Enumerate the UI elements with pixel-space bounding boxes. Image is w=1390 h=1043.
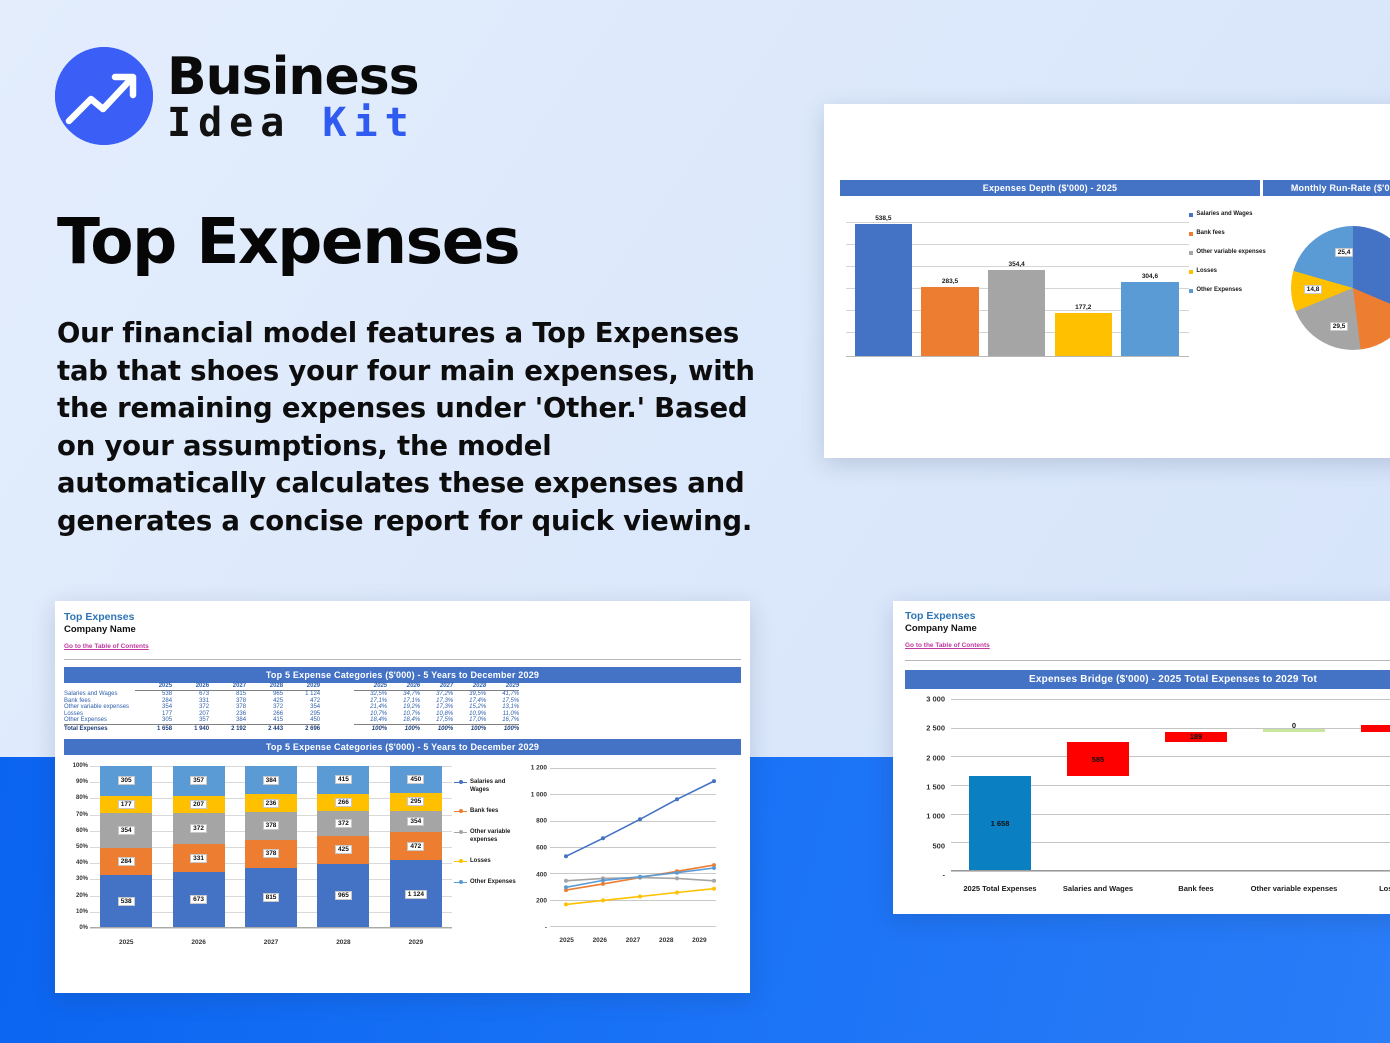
y-tick-label: 20%	[64, 893, 88, 899]
y-tick-label: 60%	[64, 828, 88, 834]
cell: 2 443	[246, 724, 283, 732]
column-header-year: 2028	[453, 683, 486, 691]
table-row: Other Expenses305357384415450	[64, 717, 320, 724]
sheet-divider	[905, 660, 1390, 661]
cell: 450	[283, 717, 320, 724]
expenses-depth-bar-chart: 538,5 283,5 354,4 177,2	[840, 200, 1189, 375]
y-tick-label: 2 000	[905, 753, 945, 762]
brand-kit-word: Kit	[322, 100, 415, 146]
depth-bar-value: 283,5	[942, 278, 958, 285]
sheet-header: Top Expenses Company Name Go to the Tabl…	[55, 601, 750, 653]
depth-bars: 538,5 283,5 354,4 177,2	[850, 208, 1183, 357]
x-tick-label: 2025 Total Expenses	[951, 884, 1049, 893]
expense-values-table: 2025 2026 2027 2028 2029 Salaries and Wa…	[64, 683, 320, 732]
legend-swatch-icon	[1189, 289, 1193, 293]
legend-item-bank-fees: Bank fees	[1189, 229, 1272, 237]
cell: 1 124	[283, 691, 320, 698]
cell: 305	[135, 717, 172, 724]
waterfall-axis-line	[951, 870, 1390, 871]
cell: 18,4%	[387, 717, 420, 724]
line-chart-legend: Salaries and Wages Bank fees Other varia…	[454, 760, 520, 950]
legend-item-losses: Losses	[454, 857, 520, 865]
segment-value: 378	[263, 821, 280, 830]
line-chart-block: Salaries and Wages Bank fees Other varia…	[454, 760, 722, 950]
x-tick-label: 2027	[616, 937, 649, 944]
column-header-year: 2028	[246, 683, 283, 691]
depth-bar-value: 354,4	[1009, 261, 1025, 268]
panel-a-legend: Salaries and Wages Bank fees Other varia…	[1189, 196, 1272, 375]
cell: 100%	[420, 724, 453, 732]
cell: 100%	[354, 724, 387, 732]
waterfall-bar-losses: 1	[1343, 699, 1390, 871]
stacked-column-2026: 357 207 372 331 673	[162, 766, 234, 928]
pie-label-losses: 14,8	[1304, 285, 1323, 294]
y-tick-label: 1 000	[520, 791, 547, 798]
brand-idea-word: Idea	[167, 100, 322, 146]
monthly-run-rate-title: Monthly Run-Rate ($'000	[1263, 180, 1390, 196]
y-tick-label: 600	[520, 845, 547, 852]
x-tick-label: 2025	[90, 939, 162, 946]
waterfall-columns: 1 658 585 189 0	[951, 699, 1390, 871]
y-tick-label: 80%	[64, 795, 88, 801]
cell: 39,5%	[453, 691, 486, 698]
bar-value: 0	[1292, 721, 1296, 730]
segment-value: 236	[263, 799, 280, 808]
y-tick-label: 3 000	[905, 695, 945, 704]
sheet-header: Top Expenses Company Name Go to the Tabl…	[893, 601, 1390, 652]
legend-item-salaries: Salaries and Wages	[454, 778, 520, 794]
sheet-company-name: Company Name	[905, 623, 1390, 634]
segment-value: 965	[335, 891, 352, 900]
x-tick-label: 2028	[307, 939, 379, 946]
y-tick-label: 1 000	[905, 812, 945, 821]
segment-value: 378	[263, 849, 280, 858]
legend-line-icon	[454, 830, 467, 835]
column-header-year: 2026	[172, 683, 209, 691]
cell: 100%	[453, 724, 486, 732]
x-tick-label: Salaries and Wages	[1049, 884, 1147, 893]
column-header-year: 2029	[486, 683, 519, 691]
table-total-row: 100%100%100%100%100%	[354, 724, 519, 732]
segment-value: 207	[190, 800, 207, 809]
waterfall-bar-bank-fees: 189	[1147, 699, 1245, 871]
waterfall-bar-2025-total: 1 658	[951, 699, 1049, 871]
stacked-chart-title: Top 5 Expense Categories ($'000) - 5 Yea…	[64, 739, 741, 755]
sheet-divider	[64, 659, 741, 660]
cell: 41,7%	[486, 691, 519, 698]
waterfall-bar-other-variable: 0	[1245, 699, 1343, 871]
expense-percent-table: 2025 2026 2027 2028 2029 32,5%34,7%37,2%…	[354, 683, 519, 732]
expense-tables: 2025 2026 2027 2028 2029 Salaries and Wa…	[55, 683, 750, 732]
bar-value: 189	[1190, 732, 1203, 741]
depth-bar-salaries: 538,5	[850, 208, 917, 357]
segment-value: 354	[407, 817, 424, 826]
cell: 34,7%	[387, 691, 420, 698]
table-row: Salaries and Wages5386738159651 124	[64, 691, 320, 698]
legend-swatch-icon	[1189, 251, 1193, 255]
brand-name-line2: Idea Kit	[167, 102, 419, 144]
waterfall-bar-salaries: 585	[1049, 699, 1147, 871]
column-header-year: 2027	[420, 683, 453, 691]
segment-value: 450	[407, 775, 424, 784]
y-tick-label: 200	[520, 898, 547, 905]
pie-label-other-expenses: 25,4	[1335, 248, 1354, 257]
x-tick-label: 2028	[650, 937, 683, 944]
legend-line-icon	[454, 780, 467, 785]
stacked-columns: 305 177 354 284 538 357 207 372 331 673	[90, 766, 452, 928]
legend-item-salaries: Salaries and Wages	[1189, 210, 1272, 218]
depth-bar-other-variable: 354,4	[983, 208, 1050, 357]
y-tick-label: 400	[520, 871, 547, 878]
x-tick-label: 2026	[162, 939, 234, 946]
y-tick-label: 40%	[64, 860, 88, 866]
cell: 32,5%	[354, 691, 387, 698]
legend-label: Salaries and Wages	[1196, 210, 1252, 218]
legend-label: Losses	[470, 857, 491, 865]
monthly-run-rate-pie-chart: 25,4 14,8 29,5	[1273, 200, 1390, 375]
panel-a-title-row: Expenses Depth ($'000) - 2025 Monthly Ru…	[840, 180, 1390, 196]
cell: 17,5%	[420, 717, 453, 724]
trend-up-arrow-icon	[55, 47, 153, 145]
cell: 965	[246, 691, 283, 698]
column-header-year: 2025	[354, 683, 387, 691]
table-row: 32,5%34,7%37,2%39,5%41,7%	[354, 691, 519, 698]
expenses-bridge-panel: Top Expenses Company Name Go to the Tabl…	[893, 601, 1390, 914]
row-label: Salaries and Wages	[64, 691, 135, 698]
y-tick-label: 800	[520, 818, 547, 825]
x-tick-label: 2026	[583, 937, 616, 944]
segment-value: 357	[190, 776, 207, 785]
stacked-x-labels: 2025 2026 2027 2028 2029	[90, 939, 452, 946]
y-tick-label: 500	[905, 841, 945, 850]
column-header-year: 2029	[283, 683, 320, 691]
legend-label: Salaries and Wages	[470, 778, 520, 794]
cell: 1 658	[135, 724, 172, 732]
cell: 2 696	[283, 724, 320, 732]
cell: 815	[209, 691, 246, 698]
row-label: Other variable expenses	[64, 704, 135, 711]
cell: 538	[135, 691, 172, 698]
y-tick-label: 0%	[64, 925, 88, 931]
stacked-axis-line	[90, 927, 452, 928]
segment-value: 415	[335, 775, 352, 784]
brand-name-line1: Business	[167, 52, 419, 103]
y-tick-label: 100%	[64, 763, 88, 769]
page-title: Top Expenses	[57, 205, 519, 278]
expenses-bridge-title: Expenses Bridge ($'000) - 2025 Total Exp…	[905, 670, 1390, 689]
line-series-paths	[550, 768, 716, 928]
column-header-year: 2027	[209, 683, 246, 691]
segment-value: 815	[263, 893, 280, 902]
sheet-title: Top Expenses	[905, 610, 1390, 622]
legend-item-other-variable: Other variable expenses	[1189, 248, 1272, 256]
cell: 384	[209, 717, 246, 724]
stacked-column-2027: 384 236 378 378 815	[235, 766, 307, 928]
x-tick-label: Other variable expenses	[1245, 884, 1343, 893]
y-tick-label: 1 200	[520, 765, 547, 772]
x-tick-label: 2025	[550, 937, 583, 944]
cell: 100%	[387, 724, 420, 732]
stacked-column-2025: 305 177 354 284 538	[90, 766, 162, 928]
legend-item-other-expenses: Other Expenses	[454, 878, 520, 886]
table-header-row: 2025 2026 2027 2028 2029	[64, 683, 320, 691]
segment-value: 538	[118, 897, 135, 906]
legend-label: Other variable expenses	[1196, 248, 1265, 256]
legend-label: Other Expenses	[470, 878, 516, 886]
x-tick-label: 2029	[683, 937, 716, 944]
x-tick-label: 2029	[380, 939, 452, 946]
segment-value: 305	[118, 776, 135, 785]
bar-value: 1 658	[991, 819, 1010, 828]
segment-value: 372	[190, 824, 207, 833]
line-x-labels: 2025 2026 2027 2028 2029	[550, 937, 716, 944]
segment-value: 284	[118, 857, 135, 866]
top-expenses-sheet-panel: Top Expenses Company Name Go to the Tabl…	[55, 601, 750, 993]
legend-line-icon	[454, 809, 467, 814]
cell: 37,2%	[420, 691, 453, 698]
table-of-contents-link[interactable]: Go to the Table of Contents	[905, 642, 990, 649]
depth-bar-other-expenses: 304,6	[1117, 208, 1184, 357]
cell: 2 192	[209, 724, 246, 732]
y-tick-label: 1 500	[905, 783, 945, 792]
legend-label: Other variable expenses	[470, 828, 520, 844]
legend-label: Bank fees	[470, 807, 498, 815]
segment-value: 384	[263, 776, 280, 785]
legend-item-bank-fees: Bank fees	[454, 807, 520, 815]
cell: 17,0%	[453, 717, 486, 724]
sheet-title: Top Expenses	[64, 611, 750, 623]
legend-swatch-icon	[1189, 213, 1193, 217]
x-tick-label: 2027	[235, 939, 307, 946]
depth-axis-line	[846, 356, 1189, 357]
y-tick-label: 50%	[64, 844, 88, 850]
legend-label: Losses	[1196, 267, 1217, 275]
y-tick-label: -	[520, 925, 547, 932]
waterfall-chart: 3 000 2 500 2 000 1 500 1 000 500 - 1 65…	[905, 695, 1390, 901]
legend-item-losses: Losses	[1189, 267, 1272, 275]
y-tick-label: -	[905, 871, 945, 880]
sheet-company-name: Company Name	[64, 624, 750, 635]
cell: 16,7%	[486, 717, 519, 724]
x-tick-label: Losses	[1343, 884, 1390, 893]
cell: 100%	[486, 724, 519, 732]
expenses-depth-panel: Expenses Depth ($'000) - 2025 Monthly Ru…	[824, 104, 1390, 458]
description-paragraph: Our financial model features a Top Expen…	[57, 315, 757, 540]
segment-value: 331	[190, 854, 207, 863]
stacked-column-2029: 450 295 354 472 1 124	[380, 766, 452, 928]
legend-item-other-variable: Other variable expenses	[454, 828, 520, 844]
y-tick-label: 30%	[64, 876, 88, 882]
cell: 415	[246, 717, 283, 724]
brand-logo: Business Idea Kit	[55, 47, 419, 145]
expense-table-title: Top 5 Expense Categories ($'000) - 5 Yea…	[64, 667, 741, 683]
table-total-row: Total Expenses1 6581 9402 1922 4432 696	[64, 724, 320, 732]
legend-line-icon	[454, 880, 467, 885]
panel-b-charts: 100% 90% 80% 70% 60% 50% 40% 30% 20% 10%…	[55, 760, 750, 950]
y-tick-label: 70%	[64, 812, 88, 818]
table-of-contents-link[interactable]: Go to the Table of Contents	[64, 643, 149, 650]
segment-value: 1 124	[405, 890, 427, 899]
segment-value: 372	[335, 819, 352, 828]
table-corner	[64, 683, 135, 691]
segment-value: 673	[190, 895, 207, 904]
y-tick-label: 10%	[64, 909, 88, 915]
stacked-column-2028: 415 266 372 425 965	[307, 766, 379, 928]
waterfall-x-labels: 2025 Total Expenses Salaries and Wages B…	[951, 884, 1390, 893]
bar-value: 585	[1092, 755, 1105, 764]
table-row: 18,4%18,4%17,5%17,0%16,7%	[354, 717, 519, 724]
column-header-year: 2025	[135, 683, 172, 691]
segment-value: 425	[335, 845, 352, 854]
legend-line-icon	[454, 859, 467, 864]
cell: 673	[172, 691, 209, 698]
slide-canvas: Business Idea Kit Top Expenses Our finan…	[0, 0, 1390, 1043]
legend-label: Other Expenses	[1196, 286, 1242, 294]
y-tick-label: 2 500	[905, 724, 945, 733]
legend-label: Bank fees	[1196, 229, 1224, 237]
segment-value: 266	[335, 798, 352, 807]
depth-bar-value: 538,5	[875, 215, 891, 222]
legend-swatch-icon	[1189, 232, 1193, 236]
legend-item-other-expenses: Other Expenses	[1189, 286, 1272, 294]
segment-value: 295	[407, 797, 424, 806]
column-header-year: 2026	[387, 683, 420, 691]
table-header-row: 2025 2026 2027 2028 2029	[354, 683, 519, 691]
depth-bar-losses: 177,2	[1050, 208, 1117, 357]
cell: 18,4%	[354, 717, 387, 724]
depth-bar-value: 177,2	[1075, 304, 1091, 311]
cell: 357	[172, 717, 209, 724]
legend-swatch-icon	[1189, 270, 1193, 274]
row-label: Total Expenses	[64, 724, 135, 732]
depth-bar-value: 304,6	[1142, 273, 1158, 280]
pie-label-other-variable: 29,5	[1330, 322, 1349, 331]
stacked-bar-chart: 100% 90% 80% 70% 60% 50% 40% 30% 20% 10%…	[64, 760, 454, 950]
expenses-trend-line-chart: 1 200 1 000 800 600 400 200 -	[520, 760, 720, 950]
y-tick-label: 90%	[64, 779, 88, 785]
panel-a-charts: 538,5 283,5 354,4 177,2	[840, 196, 1390, 375]
x-tick-label: Bank fees	[1147, 884, 1245, 893]
segment-value: 354	[118, 826, 135, 835]
cell: 1 940	[172, 724, 209, 732]
depth-bar-bank-fees: 283,5	[917, 208, 984, 357]
expenses-depth-title: Expenses Depth ($'000) - 2025	[840, 180, 1260, 196]
segment-value: 177	[118, 800, 135, 809]
segment-value: 472	[407, 842, 424, 851]
row-label: Other Expenses	[64, 717, 135, 724]
